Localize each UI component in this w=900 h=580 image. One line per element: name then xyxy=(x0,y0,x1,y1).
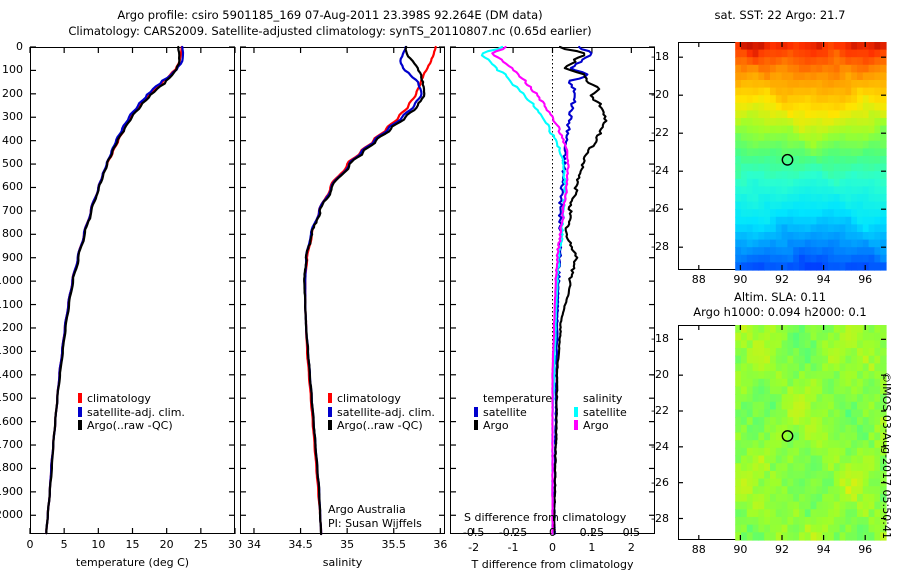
salinity-legend: climatologysatellite-adj. clim.Argo(..ra… xyxy=(328,392,435,433)
salinity-series-2 xyxy=(304,47,424,534)
sla-map-title-line-1: Altim. SLA: 0.11 xyxy=(660,290,900,304)
depth-tick-label: 700 xyxy=(2,204,23,217)
difference-series-0 xyxy=(554,47,591,534)
depth-tick-label: 500 xyxy=(2,157,23,170)
legend-swatch-3 xyxy=(574,420,578,430)
legend-label: Argo(..raw -QC) xyxy=(337,419,423,432)
depth-tick-label: 1400 xyxy=(0,368,23,381)
difference-top-tick-label: -0.5 xyxy=(463,526,484,539)
salinity-tick-label: 34 xyxy=(247,538,261,551)
temperature-axis-label: temperature (deg C) xyxy=(30,556,235,569)
legend-label: satellite xyxy=(483,406,527,419)
legend-swatch-0 xyxy=(78,393,82,403)
sla-map-lon-tick-label: 96 xyxy=(858,543,872,556)
header-line-2: Climatology: CARS2009. Satellite-adjuste… xyxy=(0,24,660,38)
legend-swatch-2 xyxy=(574,407,578,417)
header-line-1: Argo profile: csiro 5901185_169 07-Aug-2… xyxy=(0,8,660,22)
attribution-block: Argo Australia PI: Susan Wijffels xyxy=(328,503,422,531)
attribution-line-2: PI: Susan Wijffels xyxy=(328,517,422,531)
depth-tick-label: 1200 xyxy=(0,321,23,334)
sst-map-lat-tick-label: -28 xyxy=(651,240,669,253)
difference-bottom-tick-label: -2 xyxy=(468,541,479,554)
temperature-tick-label: 30 xyxy=(228,538,242,551)
depth-tick-label: 600 xyxy=(2,180,23,193)
sst-map-lat-tick-label: -26 xyxy=(651,202,669,215)
legend-swatch-1 xyxy=(328,407,332,417)
temperature-legend: climatologysatellite-adj. clim.Argo(..ra… xyxy=(78,392,185,433)
temperature-legend-item: satellite-adj. clim. xyxy=(78,406,185,420)
depth-tick-label: 1700 xyxy=(0,438,23,451)
depth-tick-label: 800 xyxy=(2,227,23,240)
depth-tick-label: 1100 xyxy=(0,298,23,311)
difference-top-axis-label: S difference from climatology xyxy=(450,511,669,524)
sst-map-title: sat. SST: 22 Argo: 21.7 xyxy=(660,8,900,22)
temperature-series-1 xyxy=(46,47,183,533)
attribution-line-1: Argo Australia xyxy=(328,503,422,517)
salinity-tick-label: 34.5 xyxy=(288,538,313,551)
depth-tick-label: 2000 xyxy=(0,508,23,521)
difference-legend-header-1: salinity xyxy=(574,392,627,406)
sst-map-lat-tick-label: -18 xyxy=(651,50,669,63)
depth-tick-label: 200 xyxy=(2,87,23,100)
depth-tick-label: 1000 xyxy=(0,274,23,287)
legend-swatch-0 xyxy=(474,407,478,417)
sla-map-lat-ticks: -18-20-22-24-26-28 xyxy=(644,325,674,540)
sla-map-lat-tick-label: -18 xyxy=(651,332,669,345)
difference-bottom-tick-label: 1 xyxy=(588,541,595,554)
sst-map-svg xyxy=(678,42,886,270)
sla-map-lon-tick-label: 88 xyxy=(692,543,706,556)
legend-label: climatology xyxy=(87,392,151,405)
depth-tick-label: 1300 xyxy=(0,344,23,357)
salinity-tick-label: 36 xyxy=(433,538,447,551)
legend-label: Argo xyxy=(483,419,509,432)
difference-legend-item: satellite xyxy=(574,406,627,420)
depth-tick-label: 400 xyxy=(2,134,23,147)
sla-map-title-line-2: Argo h1000: 0.094 h2000: 0.1 xyxy=(660,305,900,319)
legend-swatch-1 xyxy=(474,420,478,430)
sla-map-lat-tick-label: -26 xyxy=(651,476,669,489)
sst-map-lat-tick-label: -20 xyxy=(651,88,669,101)
difference-legend-item: Argo xyxy=(574,419,627,433)
depth-tick-label: 100 xyxy=(2,63,23,76)
salinity-legend-item: climatology xyxy=(328,392,435,406)
temperature-tick-label: 15 xyxy=(126,538,140,551)
sst-map-lon-tick-label: 92 xyxy=(775,273,789,286)
temperature-series-0 xyxy=(46,47,181,533)
legend-label: satellite-adj. clim. xyxy=(87,406,185,419)
difference-legend-item: satellite xyxy=(474,406,574,420)
depth-tick-label: 1500 xyxy=(0,391,23,404)
sst-map-lat-ticks: -18-20-22-24-26-28 xyxy=(644,42,674,270)
salinity-plot-svg xyxy=(240,47,445,534)
difference-top-tick-label: 0 xyxy=(549,526,556,539)
sla-map-lat-tick-label: -22 xyxy=(651,404,669,417)
sst-map-lat-tick-label: -22 xyxy=(651,126,669,139)
sst-map-lon-tick-label: 90 xyxy=(733,273,747,286)
temperature-tick-label: 25 xyxy=(194,538,208,551)
temperature-legend-item: climatology xyxy=(78,392,185,406)
salinity-tick-label: 35.5 xyxy=(382,538,407,551)
legend-swatch-0 xyxy=(328,393,332,403)
legend-swatch-1 xyxy=(78,407,82,417)
temperature-tick-label: 0 xyxy=(27,538,34,551)
difference-legend-header-0: temperature xyxy=(474,392,574,406)
salinity-legend-item: Argo(..raw -QC) xyxy=(328,419,435,433)
legend-swatch-2 xyxy=(78,420,82,430)
temperature-series-2 xyxy=(46,47,179,533)
imos-credit: ©IMOS 03-Aug-2017 05:50:41 xyxy=(880,372,893,539)
sla-map-lat-tick-label: -24 xyxy=(651,440,669,453)
temperature-plot-svg xyxy=(30,47,235,534)
difference-legend: temperaturesalinitysatellitesatelliteArg… xyxy=(474,392,627,433)
sla-map-field xyxy=(735,325,886,541)
sst-map-field xyxy=(735,42,886,271)
depth-tick-label: 1800 xyxy=(0,461,23,474)
temperature-legend-item: Argo(..raw -QC) xyxy=(78,419,185,433)
salinity-axis-label: salinity xyxy=(240,556,445,569)
legend-label: satellite-adj. clim. xyxy=(337,406,435,419)
legend-label: satellite xyxy=(583,406,627,419)
depth-tick-label: 0 xyxy=(16,40,23,53)
difference-bottom-tick-label: -1 xyxy=(508,541,519,554)
depth-tick-label: 300 xyxy=(2,110,23,123)
legend-swatch-2 xyxy=(328,420,332,430)
difference-bottom-tick-label: 2 xyxy=(628,541,635,554)
temperature-depth-ticks: 0100200300400500600700800900100011001200… xyxy=(0,47,28,534)
legend-label: climatology xyxy=(337,392,401,405)
salinity-series-0 xyxy=(305,47,436,534)
depth-tick-label: 900 xyxy=(2,251,23,264)
legend-label: Argo(..raw -QC) xyxy=(87,419,173,432)
sla-map-svg xyxy=(678,325,886,540)
salinity-legend-item: satellite-adj. clim. xyxy=(328,406,435,420)
difference-top-tick-label: 0.5 xyxy=(623,526,641,539)
difference-top-tick-label: -0.25 xyxy=(499,526,527,539)
sla-map-lat-tick-label: -28 xyxy=(651,512,669,525)
difference-top-tick-label: 0.25 xyxy=(580,526,605,539)
temperature-tick-label: 10 xyxy=(91,538,105,551)
difference-bottom-axis-label: T difference from climatology xyxy=(450,558,655,571)
sst-map-lon-tick-label: 94 xyxy=(817,273,831,286)
difference-legend-item: Argo xyxy=(474,419,574,433)
sla-map-lon-tick-label: 90 xyxy=(733,543,747,556)
sla-map-lat-tick-label: -20 xyxy=(651,368,669,381)
temperature-tick-label: 5 xyxy=(61,538,68,551)
difference-series-1 xyxy=(554,47,606,534)
sst-map-lon-tick-label: 96 xyxy=(858,273,872,286)
salinity-tick-label: 35 xyxy=(340,538,354,551)
sla-map-lon-tick-label: 92 xyxy=(775,543,789,556)
legend-label: Argo xyxy=(583,419,609,432)
difference-bottom-tick-label: 0 xyxy=(549,541,556,554)
sst-map-lat-tick-label: -24 xyxy=(651,164,669,177)
sla-map-lon-tick-label: 94 xyxy=(817,543,831,556)
difference-plot-svg xyxy=(450,47,655,534)
depth-tick-label: 1900 xyxy=(0,485,23,498)
depth-tick-label: 1600 xyxy=(0,415,23,428)
sst-map-lon-tick-label: 88 xyxy=(692,273,706,286)
temperature-tick-label: 20 xyxy=(160,538,174,551)
